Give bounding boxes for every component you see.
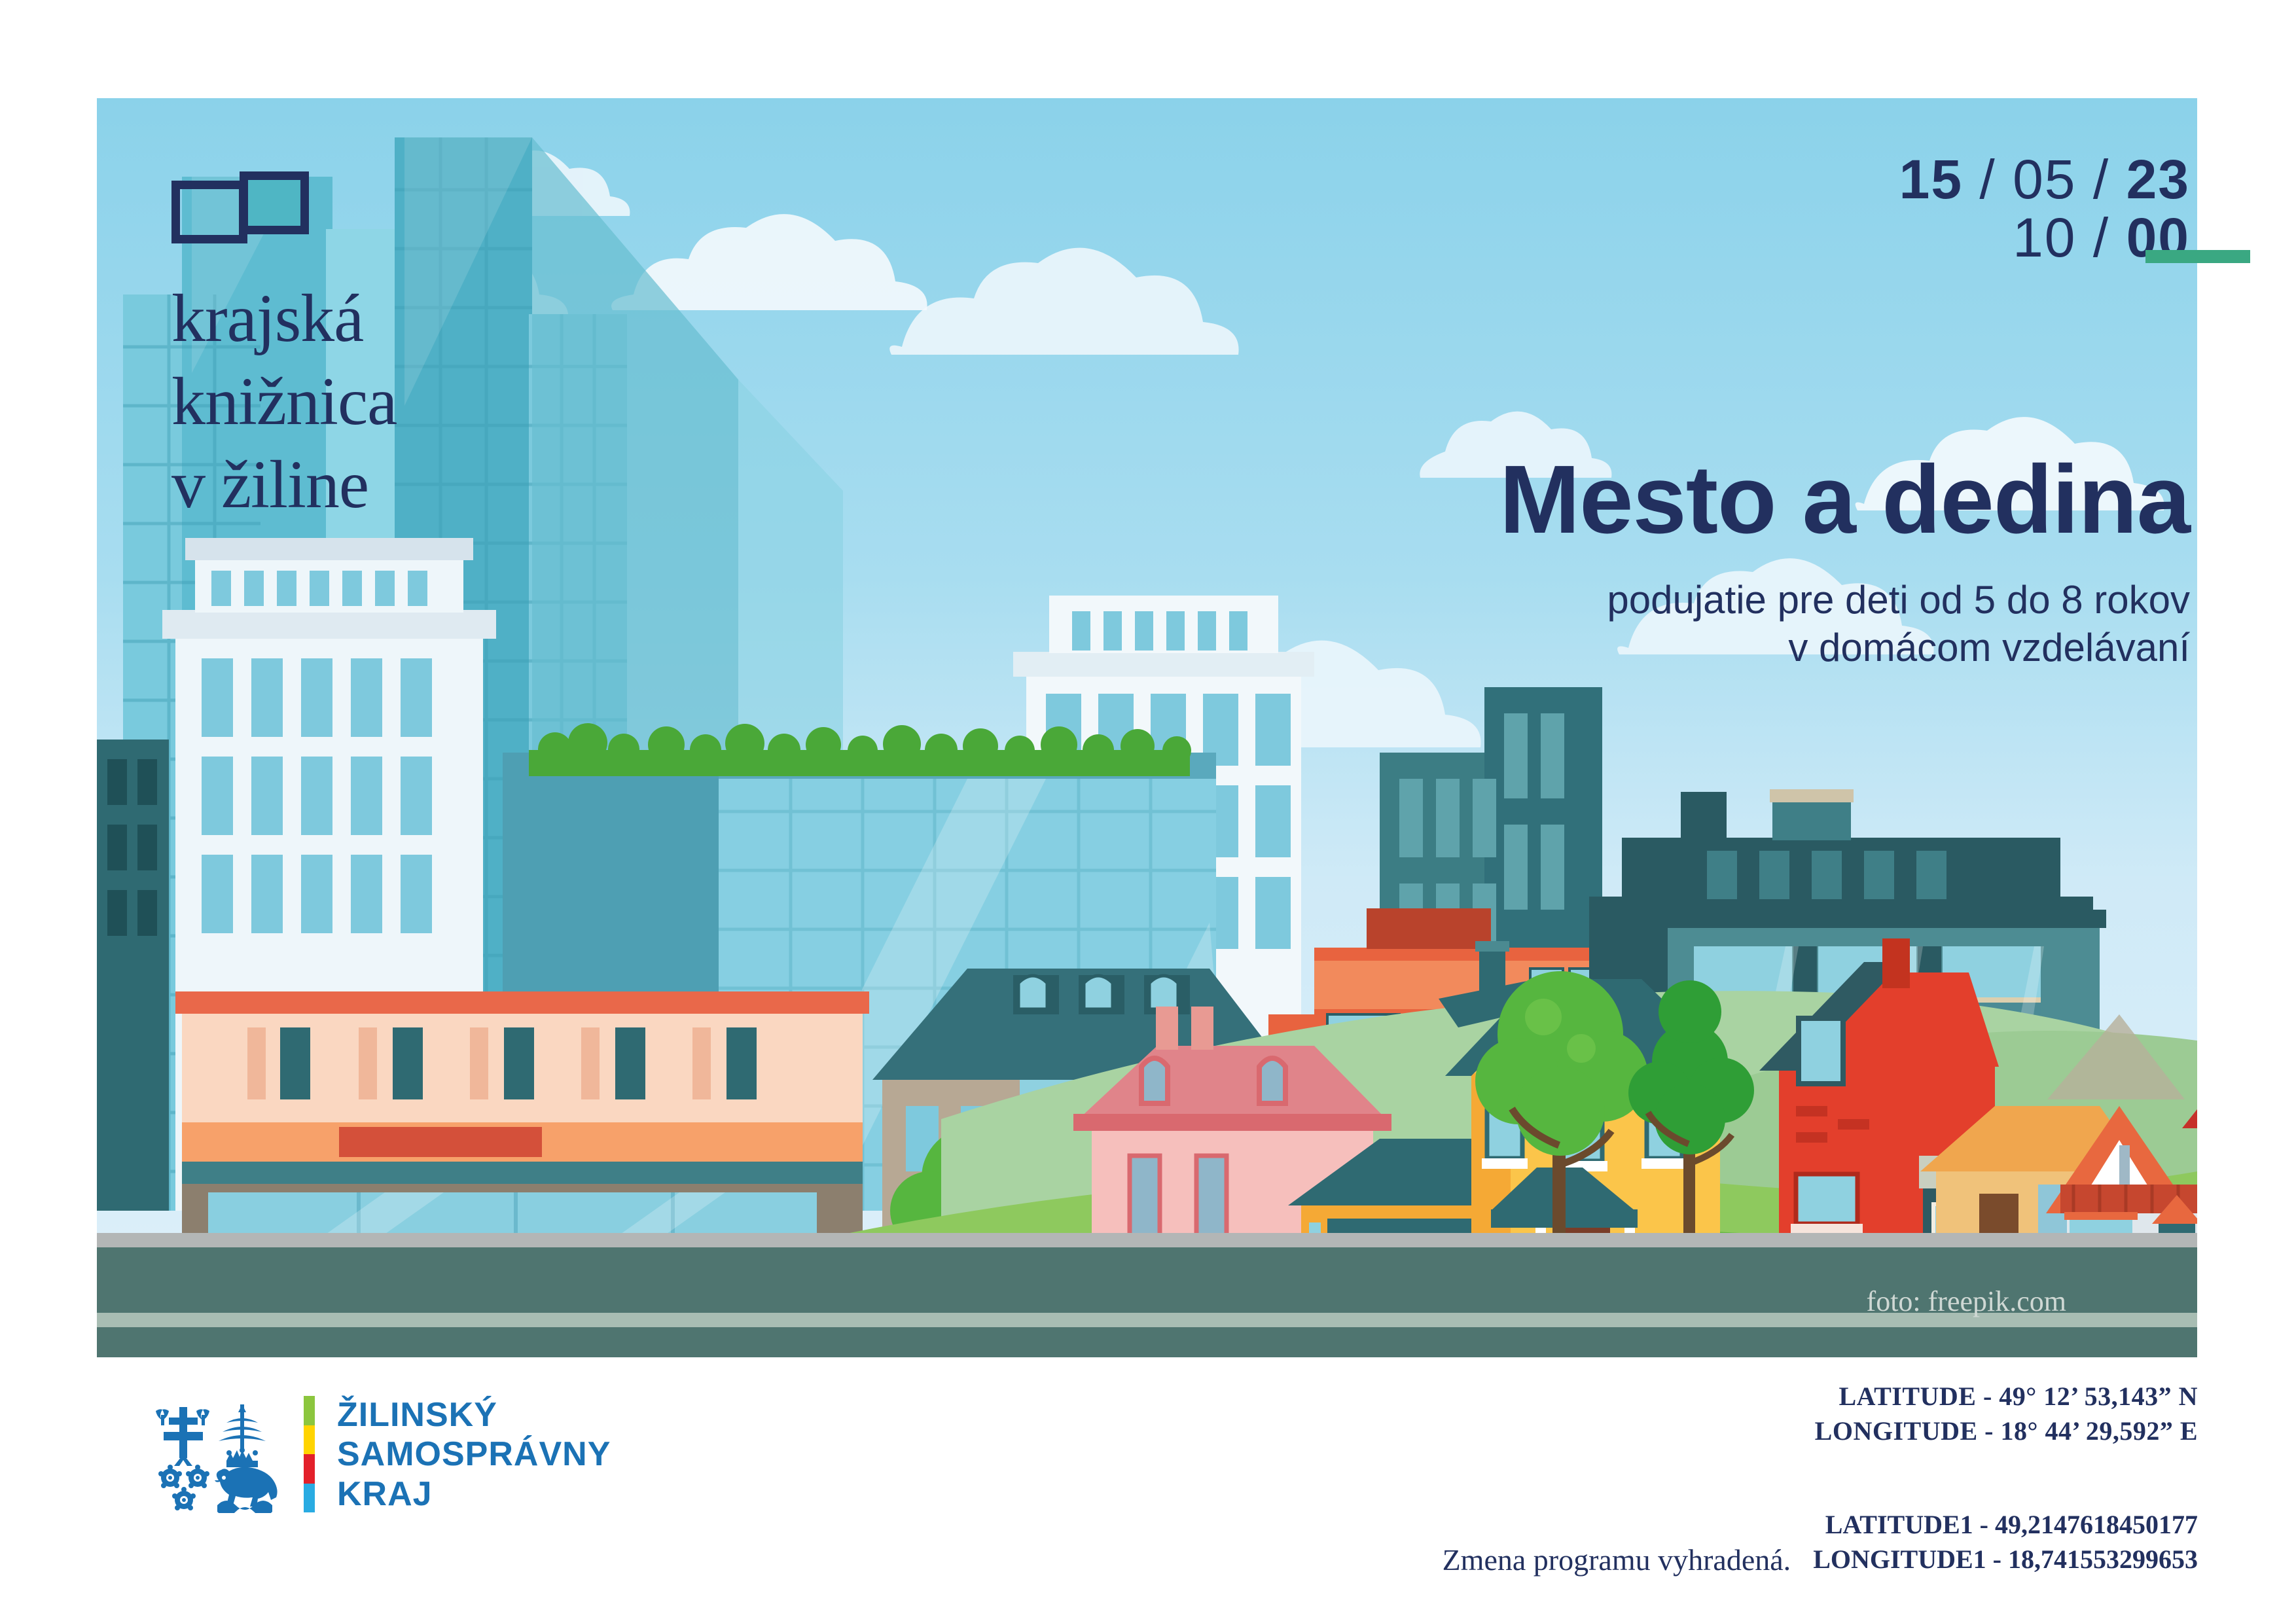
accent-bar [2145,250,2250,263]
zsk-line-1: ŽILINSKÝ [337,1395,611,1435]
subtitle-line-2: v domácom vzdelávaní [1499,624,2190,671]
library-logo: krajská knižnica v žiline [171,171,590,527]
footer: ŽILINSKÝ SAMOSPRÁVNY KRAJ LATITUDE - 49°… [0,1357,2296,1623]
event-month: 05 [2013,149,2076,210]
latitude: LATITUDE - 49° 12’ 53,143” N [1815,1380,2198,1414]
footer-bottom-row: Zmena programu vyhradená. LATITUDE1 - 49… [1443,1508,2198,1577]
library-wordmark: krajská knižnica v žiline [171,277,590,527]
time-sep: / [2093,207,2109,268]
date-sep-2: / [2093,149,2109,210]
wordmark-line-1: krajská [171,277,590,361]
photo-credit: foto: freepik.com [1867,1285,2066,1318]
latitude1: LATITUDE1 - 49,2147618450177 [1813,1508,2198,1543]
wordmark-line-3: v žiline [171,444,590,527]
longitude1: LONGITUDE1 - 18,741553299653 [1813,1543,2198,1577]
coordinates-block: LATITUDE - 49° 12’ 53,143” N LONGITUDE -… [1815,1380,2198,1449]
event-day: 15 [1899,149,1963,210]
zsk-logo: ŽILINSKÝ SAMOSPRÁVNY KRAJ [151,1395,611,1514]
bar-red [304,1454,315,1484]
bar-blue [304,1484,315,1513]
event-title-block: Mesto a dedina podujatie pre deti od 5 d… [1499,452,2190,671]
zsk-color-bar [304,1396,315,1512]
poster-root: foto: freepik.com krajská knižnica v žil… [0,0,2296,1623]
date-sep-1: / [1979,149,1996,210]
event-date: 15 / 05 / 23 [1899,151,2190,209]
bar-yellow [304,1425,315,1455]
zsk-line-2: SAMOSPRÁVNY [337,1435,611,1474]
page-title: Mesto a dedina [1499,452,2190,548]
zsk-wordmark: ŽILINSKÝ SAMOSPRÁVNY KRAJ [337,1395,611,1514]
wordmark-line-2: knižnica [171,361,590,444]
open-book-mark-icon [171,171,309,243]
event-year: 23 [2126,149,2190,210]
program-disclaimer: Zmena programu vyhradená. [1443,1543,1791,1577]
subtitle-line-1: podujatie pre deti od 5 do 8 rokov [1499,576,2190,624]
zsk-line-3: KRAJ [337,1474,611,1514]
event-hour: 10 [2013,207,2076,268]
zsk-coat-of-arms-icon [151,1395,281,1513]
bar-green [304,1396,315,1425]
event-subtitle: podujatie pre deti od 5 do 8 rokov v dom… [1499,576,2190,671]
longitude: LONGITUDE - 18° 44’ 29,592” E [1815,1414,2198,1449]
